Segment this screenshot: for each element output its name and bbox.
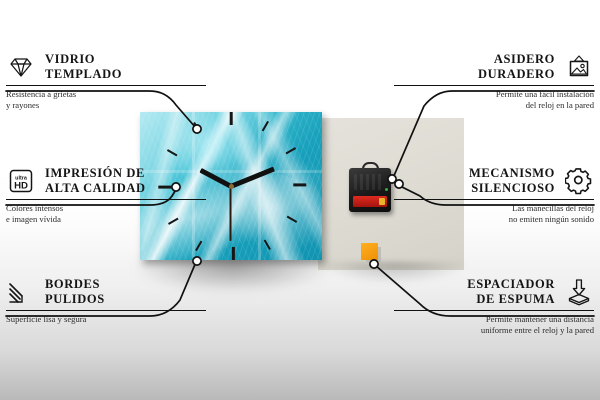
feature-divider <box>394 310 594 312</box>
gear-icon <box>564 166 594 196</box>
feature-divider <box>394 199 594 201</box>
infographic-stage: VIDRIO TEMPLADO Resistencia a grietas y … <box>0 0 600 400</box>
clock-second-hand <box>230 186 232 241</box>
feature-mecanismo-silencioso: MECANISMO SILENCIOSO Las manecillas del … <box>394 166 594 226</box>
foam-spacer-icon <box>564 277 594 307</box>
feature-heading: BORDES PULIDOS <box>6 277 206 308</box>
feature-divider <box>6 85 206 87</box>
feature-heading: VIDRIO TEMPLADO <box>6 52 206 83</box>
feature-heading: ESPACIADOR DE ESPUMA <box>394 277 594 308</box>
feature-description: Permite mantener una distancia uniforme … <box>394 314 594 337</box>
feature-title: MECANISMO SILENCIOSO <box>469 166 555 197</box>
feature-description: Resistencia a grietas y rayones <box>6 89 206 112</box>
clock-minute-hand <box>230 167 274 188</box>
feature-description: Superficie lisa y segura <box>6 314 206 325</box>
feature-description: Permite una fácil instalación del reloj … <box>394 89 594 112</box>
feature-vidrio-templado: VIDRIO TEMPLADO Resistencia a grietas y … <box>6 52 206 112</box>
svg-text:HD: HD <box>14 181 28 192</box>
feature-heading: ultra HD IMPRESIÓN DE ALTA CALIDAD <box>6 166 206 197</box>
foam-spacer[interactable] <box>361 243 378 260</box>
clock-mechanism[interactable] <box>349 168 391 212</box>
clock-center-cap <box>229 184 234 189</box>
feature-impresion-alta-calidad: ultra HD IMPRESIÓN DE ALTA CALIDAD Color… <box>6 166 206 226</box>
feature-description: Colores intensos e imagen vívida <box>6 203 206 226</box>
feature-divider <box>6 310 206 312</box>
polished-edges-icon <box>6 277 36 307</box>
feature-description: Las manecillas del reloj no emiten ningú… <box>394 203 594 226</box>
feature-bordes-pulidos: BORDES PULIDOS Superficie lisa y segura <box>6 277 206 325</box>
feature-title: IMPRESIÓN DE ALTA CALIDAD <box>45 166 146 197</box>
mechanism-battery <box>353 196 387 207</box>
feature-title: ASIDERO DURADERO <box>478 52 555 83</box>
feature-divider <box>6 199 206 201</box>
feature-title: VIDRIO TEMPLADO <box>45 52 122 83</box>
feature-asidero-duradero: ASIDERO DURADERO Permite una fácil insta… <box>394 52 594 112</box>
feature-heading: ASIDERO DURADERO <box>394 52 594 83</box>
feature-espaciador-de-espuma: ESPACIADOR DE ESPUMA Permite mantener un… <box>394 277 594 337</box>
feature-title: BORDES PULIDOS <box>45 277 105 308</box>
mechanism-body <box>349 168 391 212</box>
diamond-icon <box>6 52 36 82</box>
feature-heading: MECANISMO SILENCIOSO <box>394 166 594 197</box>
feature-divider <box>394 85 594 87</box>
hanging-frame-icon <box>564 52 594 82</box>
ultra-hd-icon: ultra HD <box>6 166 36 196</box>
mechanism-indicator <box>385 188 388 191</box>
feature-title: ESPACIADOR DE ESPUMA <box>467 277 555 308</box>
